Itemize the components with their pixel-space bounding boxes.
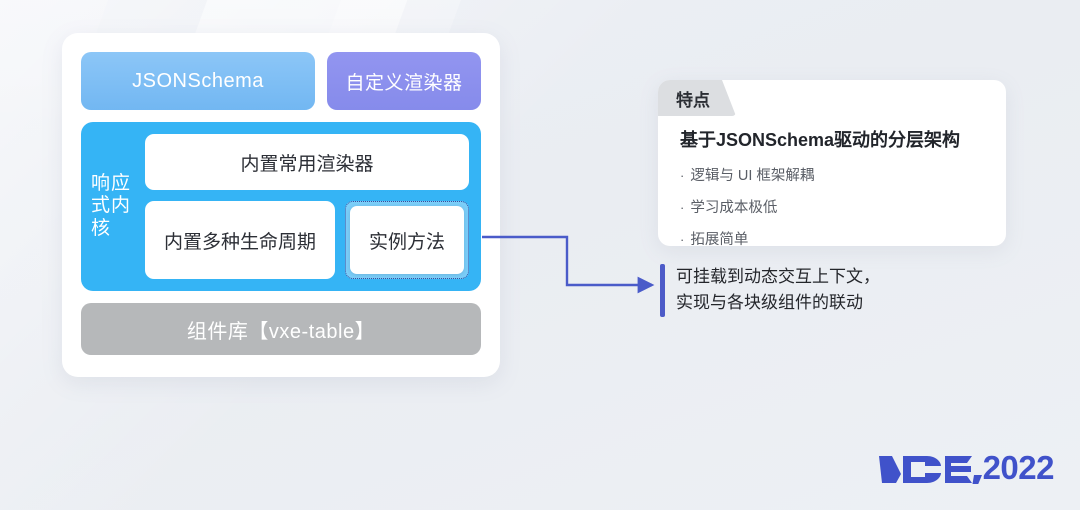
- vdc-logo: 2022: [879, 450, 1054, 484]
- vdc-wordmark-icon: [879, 450, 983, 484]
- feature-list: · 逻辑与 UI 框架解耦 · 学习成本极低 · 拓展简单: [680, 164, 988, 249]
- callout-note: 可挂载到动态交互上下文， 实现与各块级组件的联动: [660, 264, 880, 317]
- block-custom-renderer[interactable]: 自定义渲染器: [327, 52, 481, 110]
- bullet-icon: ·: [680, 233, 684, 246]
- instance-method-highlight: 实例方法: [345, 201, 469, 279]
- block-builtin-renderers[interactable]: 内置常用渲染器: [145, 134, 469, 190]
- list-item: · 学习成本极低: [680, 196, 988, 217]
- feature-panel: 特点 基于JSONSchema驱动的分层架构 · 逻辑与 UI 框架解耦 · 学…: [658, 80, 1006, 246]
- list-item: · 逻辑与 UI 框架解耦: [680, 164, 988, 185]
- kernel-body: 内置常用渲染器 内置多种生命周期 实例方法: [145, 134, 469, 279]
- logo-year: 2022: [983, 451, 1054, 484]
- list-item-label: 拓展简单: [690, 228, 748, 249]
- slide-canvas: JSONSchema 自定义渲染器 响应式内核 内置常用渲染器 内置多种生命周期…: [0, 0, 1080, 510]
- block-builtin-lifecycles[interactable]: 内置多种生命周期: [145, 201, 335, 279]
- block-jsonschema[interactable]: JSONSchema: [81, 52, 315, 110]
- callout-text: 可挂载到动态交互上下文， 实现与各块级组件的联动: [676, 264, 880, 317]
- kernel-vertical-label: 响应式内核: [91, 134, 135, 279]
- block-component-library[interactable]: 组件库【vxe-table】: [81, 303, 481, 355]
- block-instance-methods[interactable]: 实例方法: [350, 206, 464, 274]
- bullet-icon: ·: [680, 169, 684, 182]
- reactive-kernel-panel: 响应式内核 内置常用渲染器 内置多种生命周期 实例方法: [81, 122, 481, 291]
- feature-heading: 基于JSONSchema驱动的分层架构: [680, 126, 988, 152]
- list-item-label: 学习成本极低: [690, 196, 777, 217]
- list-item-label: 逻辑与 UI 框架解耦: [690, 164, 814, 185]
- kernel-bottom-row: 内置多种生命周期 实例方法: [145, 201, 469, 279]
- bullet-icon: ·: [680, 201, 684, 214]
- list-item: · 拓展简单: [680, 228, 988, 249]
- architecture-card: JSONSchema 自定义渲染器 响应式内核 内置常用渲染器 内置多种生命周期…: [62, 33, 500, 377]
- architecture-top-row: JSONSchema 自定义渲染器: [81, 52, 481, 110]
- callout-accent-bar: [660, 264, 665, 317]
